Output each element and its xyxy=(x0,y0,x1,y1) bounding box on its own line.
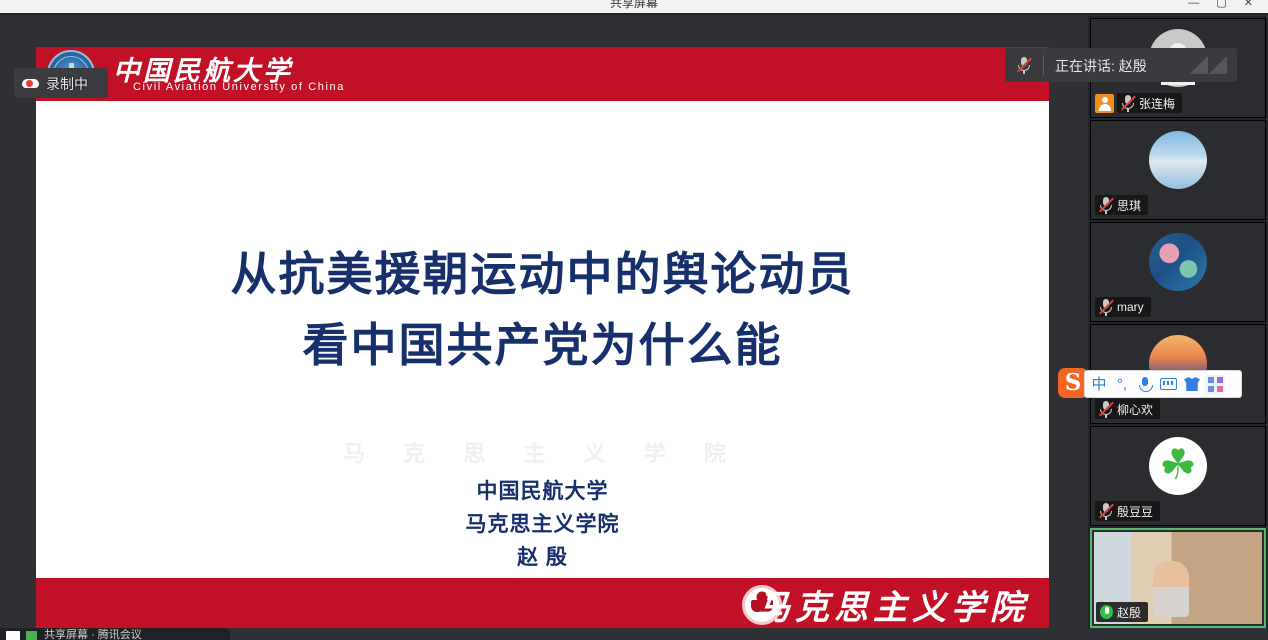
presentation-slide: 中国民航大学 Civil Aviation University of Chin… xyxy=(36,47,1049,632)
participant-tile-active-speaker[interactable]: 赵殷 xyxy=(1090,528,1266,628)
participant-name-badge: 思琪 xyxy=(1095,195,1148,215)
slide-header-banner: 中国民航大学 Civil Aviation University of Chin… xyxy=(36,47,1049,101)
subtitle-line-2: 马克思主义学院 xyxy=(36,508,1049,541)
slide-title: 从抗美援朝运动中的舆论动员 看中国共产党为什么能 xyxy=(36,239,1049,382)
recording-indicator[interactable]: 录制中 xyxy=(14,68,108,98)
window-controls[interactable]: — ▢ ✕ xyxy=(1188,0,1260,9)
participant-name-badge: mary xyxy=(1095,297,1151,317)
speaking-banner: 正在讲话: 赵殷 xyxy=(1005,48,1237,82)
title-line-2: 看中国共产党为什么能 xyxy=(36,310,1049,381)
sogou-ime-toolbar[interactable]: S 中 °, xyxy=(1058,368,1242,400)
subtitle-line-1: 中国民航大学 xyxy=(36,475,1049,508)
window-titlebar: 共享屏幕 — ▢ ✕ xyxy=(0,0,1268,13)
ime-language-mode[interactable]: 中 xyxy=(1089,375,1109,394)
mic-muted-icon xyxy=(1099,502,1113,520)
taskbar-app-icon xyxy=(6,631,20,640)
taskbar-item[interactable]: 共享屏幕 · 腾讯会议 xyxy=(0,628,230,640)
avatar xyxy=(1149,437,1207,495)
mic-muted-icon xyxy=(1099,298,1113,316)
apps-icon[interactable] xyxy=(1205,375,1225,394)
avatar xyxy=(1149,131,1207,189)
cloud-record-icon xyxy=(22,79,39,88)
shared-screen-stage: 中国民航大学 Civil Aviation University of Chin… xyxy=(0,16,1086,628)
participant-name: 赵殷 xyxy=(1117,604,1141,621)
slide-footer-banner: 马克思主义学院 xyxy=(36,578,1049,632)
mic-muted-icon xyxy=(1017,56,1031,79)
university-name-en: Civil Aviation University of China xyxy=(133,81,345,93)
keyboard-icon[interactable] xyxy=(1158,376,1179,392)
participant-name-badge: 柳心欢 xyxy=(1095,399,1160,419)
participant-name: mary xyxy=(1117,300,1144,314)
participant-name: 殷豆豆 xyxy=(1117,503,1153,520)
participant-tile[interactable]: mary xyxy=(1090,222,1266,322)
banner-divider xyxy=(1043,55,1044,75)
meeting-screen-share-window: 共享屏幕 — ▢ ✕ 中国民航大学 Civil Aviation Univers… xyxy=(0,0,1268,640)
taskbar-label: 共享屏幕 · 腾讯会议 xyxy=(44,626,142,640)
school-name-footer: 马克思主义学院 xyxy=(756,580,1029,629)
participant-name: 张连梅 xyxy=(1139,95,1175,112)
ime-punctuation-toggle[interactable]: °, xyxy=(1112,375,1132,394)
speaking-label: 正在讲话: 赵殷 xyxy=(1055,56,1147,76)
participant-name-badge: 殷豆豆 xyxy=(1095,501,1160,521)
recording-label: 录制中 xyxy=(46,74,88,94)
subtitle-author: 赵 殷 xyxy=(36,541,1049,574)
ime-button-group[interactable]: 中 °, xyxy=(1084,370,1242,398)
mic-icon[interactable] xyxy=(1135,375,1155,394)
participant-tile[interactable]: 思琪 xyxy=(1090,120,1266,220)
slide-body: 从抗美援朝运动中的舆论动员 看中国共产党为什么能 马 克 思 主 义 学 院 中… xyxy=(36,101,1049,578)
mic-muted-icon xyxy=(1121,94,1135,112)
mic-muted-icon xyxy=(1099,400,1113,418)
window-title: 共享屏幕 xyxy=(610,0,658,11)
host-badge-icon xyxy=(1095,94,1114,113)
participant-name-badge: 赵殷 xyxy=(1096,602,1148,622)
skin-icon[interactable] xyxy=(1182,375,1202,393)
participant-name-badge: 张连梅 xyxy=(1117,93,1182,113)
participant-rail[interactable]: 张连梅 思琪 mary 柳心欢 xyxy=(1088,16,1268,640)
participant-name: 思琪 xyxy=(1117,197,1141,214)
taskbar-status-icon xyxy=(26,631,37,640)
tencent-meeting-logo-icon xyxy=(1189,57,1227,74)
mic-muted-icon xyxy=(1099,196,1113,214)
title-line-1: 从抗美援朝运动中的舆论动员 xyxy=(36,239,1049,310)
slide-watermark: 马 克 思 主 义 学 院 xyxy=(36,436,1049,468)
taskbar: 共享屏幕 · 腾讯会议 xyxy=(0,628,1268,640)
participant-tile[interactable]: 殷豆豆 xyxy=(1090,426,1266,526)
participant-name: 柳心欢 xyxy=(1117,401,1153,418)
mic-on-icon xyxy=(1100,605,1113,619)
avatar xyxy=(1149,233,1207,291)
